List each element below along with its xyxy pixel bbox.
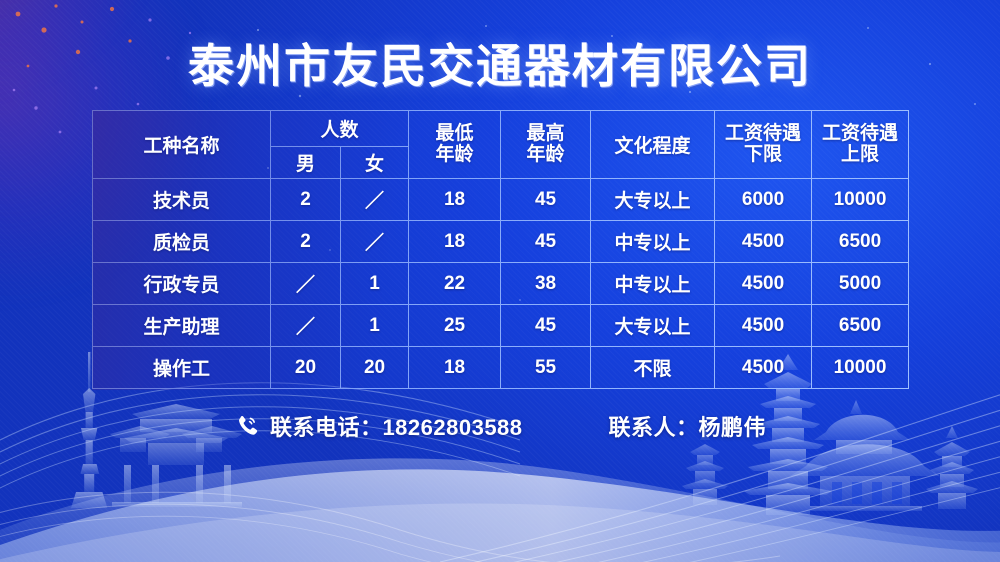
cell-min-age: 18 bbox=[409, 347, 501, 389]
cell-education: 中专以上 bbox=[591, 263, 715, 305]
cell-min-age: 18 bbox=[409, 179, 501, 221]
contact-phone-label: 联系电话：18262803588 bbox=[270, 410, 523, 442]
job-listing-table: 工种名称 人数 最低 年龄 最高 年龄 文化程度 bbox=[92, 110, 909, 389]
cell-education: 中专以上 bbox=[591, 221, 715, 263]
recruitment-poster: 泰州市友民交通器材有限公司 工种名称 人数 最低 年龄 bbox=[0, 0, 1000, 562]
table-head: 工种名称 人数 最低 年龄 最高 年龄 文化程度 bbox=[93, 111, 909, 179]
cell-male: 20 bbox=[271, 347, 341, 389]
cell-education: 大专以上 bbox=[591, 305, 715, 347]
table-body: 技术员 2 ／ 18 45 大专以上 6000 10000 质检员 2 ／ 18… bbox=[93, 179, 909, 389]
cell-job: 操作工 bbox=[93, 347, 271, 389]
cell-male: ／ bbox=[271, 263, 341, 305]
cell-education: 不限 bbox=[591, 347, 715, 389]
th-salary-high: 工资待遇 上限 bbox=[812, 111, 909, 179]
cell-salary-low: 4500 bbox=[715, 263, 812, 305]
table-row: 技术员 2 ／ 18 45 大专以上 6000 10000 bbox=[93, 179, 909, 221]
cell-max-age: 45 bbox=[501, 179, 591, 221]
cell-salary-low: 6000 bbox=[715, 179, 812, 221]
th-salary-high-line2: 上限 bbox=[812, 145, 908, 166]
th-max-age: 最高 年龄 bbox=[501, 111, 591, 179]
th-salary-low-line2: 下限 bbox=[715, 145, 811, 166]
cell-female: ／ bbox=[341, 221, 409, 263]
th-salary-high-line1: 工资待遇 bbox=[812, 124, 908, 145]
cell-salary-high: 10000 bbox=[812, 347, 909, 389]
phone-call-icon bbox=[234, 413, 260, 439]
cell-max-age: 38 bbox=[501, 263, 591, 305]
cell-male: 2 bbox=[271, 221, 341, 263]
cell-job: 行政专员 bbox=[93, 263, 271, 305]
cell-min-age: 22 bbox=[409, 263, 501, 305]
cell-salary-high: 6500 bbox=[812, 305, 909, 347]
job-table-container: 工种名称 人数 最低 年龄 最高 年龄 文化程度 bbox=[92, 110, 908, 389]
table-header-row-1: 工种名称 人数 最低 年龄 最高 年龄 文化程度 bbox=[93, 111, 909, 147]
cell-salary-low: 4500 bbox=[715, 305, 812, 347]
cell-job: 生产助理 bbox=[93, 305, 271, 347]
cell-max-age: 45 bbox=[501, 221, 591, 263]
cell-salary-high: 5000 bbox=[812, 263, 909, 305]
th-max-age-line2: 年龄 bbox=[501, 145, 590, 166]
th-female: 女 bbox=[341, 147, 409, 179]
cell-salary-high: 6500 bbox=[812, 221, 909, 263]
cell-female: 20 bbox=[341, 347, 409, 389]
cell-salary-low: 4500 bbox=[715, 221, 812, 263]
table-row: 行政专员 ／ 1 22 38 中专以上 4500 5000 bbox=[93, 263, 909, 305]
cell-salary-high: 10000 bbox=[812, 179, 909, 221]
th-job-name: 工种名称 bbox=[93, 111, 271, 179]
contact-footer: 联系电话：18262803588 联系人：杨鹏伟 bbox=[0, 410, 1000, 444]
cell-female: 1 bbox=[341, 263, 409, 305]
table-row: 操作工 20 20 18 55 不限 4500 10000 bbox=[93, 347, 909, 389]
cell-salary-low: 4500 bbox=[715, 347, 812, 389]
th-max-age-line1: 最高 bbox=[501, 124, 590, 145]
th-education: 文化程度 bbox=[591, 111, 715, 179]
cell-max-age: 55 bbox=[501, 347, 591, 389]
poster-title: 泰州市友民交通器材有限公司 bbox=[0, 30, 1000, 96]
cell-female: ／ bbox=[341, 179, 409, 221]
table-row: 生产助理 ／ 1 25 45 大专以上 4500 6500 bbox=[93, 305, 909, 347]
cell-male: 2 bbox=[271, 179, 341, 221]
cell-male: ／ bbox=[271, 305, 341, 347]
th-min-age-line2: 年龄 bbox=[409, 145, 500, 166]
th-male: 男 bbox=[271, 147, 341, 179]
table-row: 质检员 2 ／ 18 45 中专以上 4500 6500 bbox=[93, 221, 909, 263]
contact-person-label: 联系人：杨鹏伟 bbox=[609, 410, 767, 442]
th-salary-low: 工资待遇 下限 bbox=[715, 111, 812, 179]
cell-min-age: 18 bbox=[409, 221, 501, 263]
cell-education: 大专以上 bbox=[591, 179, 715, 221]
th-min-age: 最低 年龄 bbox=[409, 111, 501, 179]
cell-job: 质检员 bbox=[93, 221, 271, 263]
cell-female: 1 bbox=[341, 305, 409, 347]
th-headcount: 人数 bbox=[271, 111, 409, 147]
cell-max-age: 45 bbox=[501, 305, 591, 347]
th-min-age-line1: 最低 bbox=[409, 124, 500, 145]
cell-min-age: 25 bbox=[409, 305, 501, 347]
th-salary-low-line1: 工资待遇 bbox=[715, 124, 811, 145]
cell-job: 技术员 bbox=[93, 179, 271, 221]
